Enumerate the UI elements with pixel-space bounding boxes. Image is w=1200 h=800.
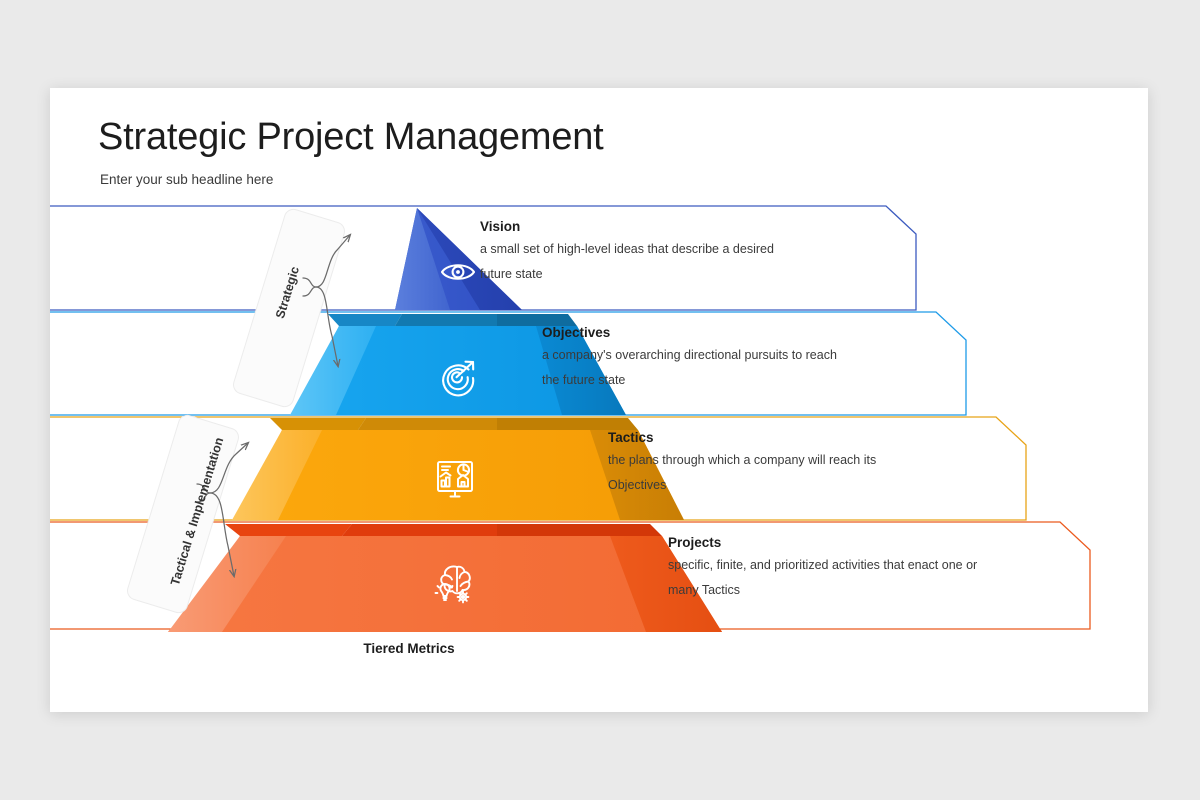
callout-title: Vision (480, 219, 520, 234)
callout-line-1: specific, finite, and prioritized activi… (668, 558, 977, 572)
callout-line-2: future state (480, 267, 543, 281)
diagram-caption: Tiered Metrics (354, 641, 464, 656)
callout-title: Projects (668, 535, 721, 550)
callout-line-1: a company's overarching directional purs… (542, 348, 837, 362)
callout-title: Objectives (542, 325, 610, 340)
callout-line-2: Objectives (608, 478, 666, 492)
callout-vision[interactable]: Vision a small set of high-level ideas t… (458, 206, 916, 310)
callout-line-1: a small set of high-level ideas that des… (480, 242, 774, 256)
callout-title: Tactics (608, 430, 654, 445)
callout-projects[interactable]: Projects specific, finite, and prioritiz… (646, 522, 1090, 629)
callout-line-2: the future state (542, 373, 625, 387)
slide-card: Strategic Project Management Enter your … (50, 88, 1148, 712)
callout-objectives[interactable]: Objectives a company's overarching direc… (520, 312, 966, 415)
pyramid-diagram: Vision a small set of high-level ideas t… (50, 88, 1148, 712)
callout-line-2: many Tactics (668, 583, 740, 597)
callout-line-1: the plans through which a company will r… (608, 453, 876, 467)
callout-tactics[interactable]: Tactics the plans through which a compan… (586, 417, 1026, 520)
